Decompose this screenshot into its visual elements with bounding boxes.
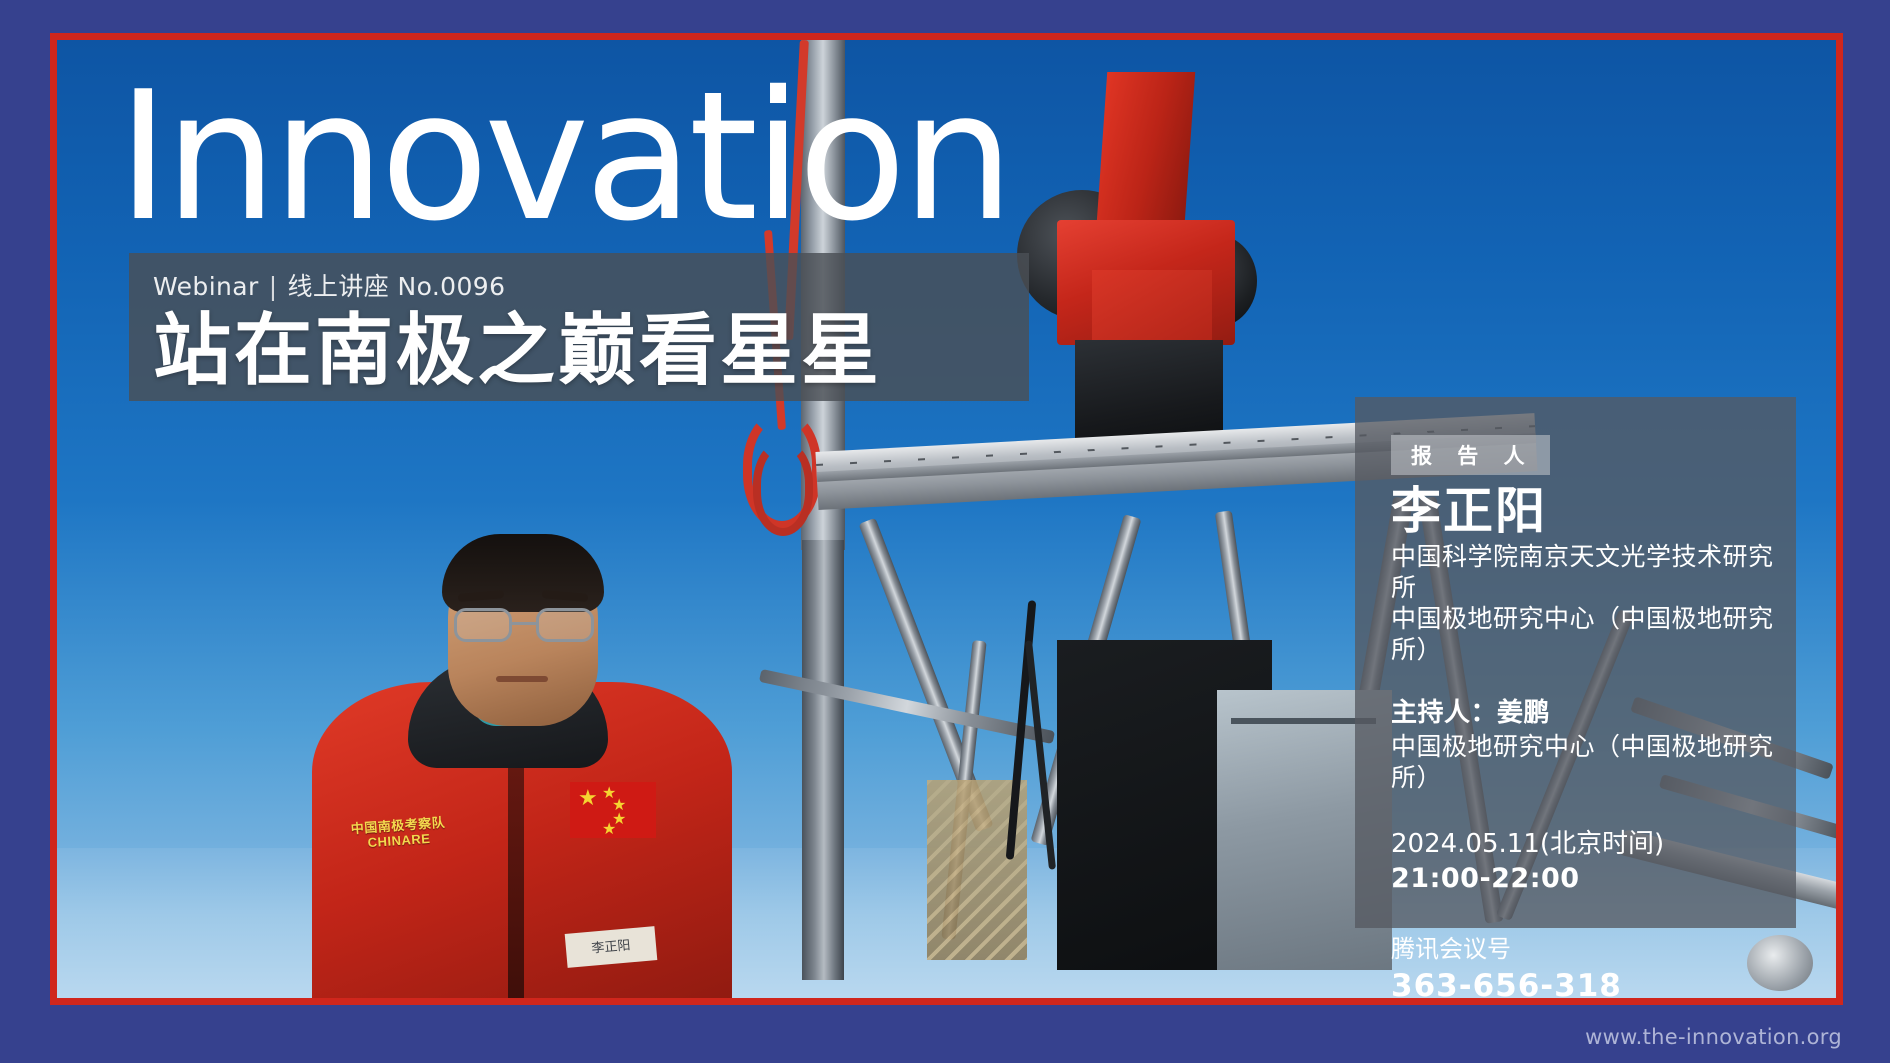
speaker-affiliation-1: 中国科学院南京天文光学技术研究所 bbox=[1391, 541, 1796, 603]
host-affiliation: 中国极地研究中心（中国极地研究所） bbox=[1391, 731, 1796, 793]
telescope-mast-lower bbox=[802, 540, 844, 980]
glasses-bridge bbox=[512, 622, 536, 625]
datetime-block: 2024.05.11(北京时间) 21:00-22:00 bbox=[1391, 827, 1796, 897]
host-block: 主持人：姜鹏 中国极地研究中心（中国极地研究所） bbox=[1391, 695, 1796, 793]
meeting-label: 腾讯会议号 bbox=[1391, 933, 1796, 965]
footer-website-url[interactable]: www.the-innovation.org bbox=[1585, 1025, 1842, 1049]
speaker-affiliation-2: 中国极地研究中心（中国极地研究所） bbox=[1391, 603, 1796, 665]
page-title: 站在南极之巅看星星 bbox=[153, 305, 1029, 397]
meeting-block: 腾讯会议号 363-656-318 bbox=[1391, 933, 1796, 1005]
lens-left bbox=[454, 608, 512, 642]
webinar-info-panel: 报 告 人 李正阳 中国科学院南京天文光学技术研究所 中国极地研究中心（中国极地… bbox=[1355, 397, 1796, 928]
meeting-id: 363-656-318 bbox=[1391, 965, 1796, 1005]
instrument-red-chimney bbox=[1097, 72, 1195, 222]
lens-right bbox=[536, 608, 594, 642]
webinar-date: 2024.05.11(北京时间) bbox=[1391, 827, 1796, 861]
eyebrow-label-cn: 线上讲座 No.0096 bbox=[288, 272, 506, 301]
eyebrow-label-en: Webinar bbox=[153, 272, 259, 301]
flag-star-small: ★ bbox=[602, 822, 616, 838]
webinar-time: 21:00-22:00 bbox=[1391, 861, 1796, 897]
webinar-eyebrow: Webinar|线上讲座 No.0096 bbox=[153, 267, 1029, 303]
title-band: Webinar|线上讲座 No.0096 站在南极之巅看星星 bbox=[129, 253, 1029, 401]
speaker-photo: ★ ★ ★ ★ ★ 中国南极考察队 CHINARE 李正阳 bbox=[312, 530, 732, 998]
jacket-chinare-text: 中国南极考察队 CHINARE bbox=[333, 814, 466, 867]
mouth bbox=[496, 676, 548, 682]
host-name: 主持人：姜鹏 bbox=[1391, 695, 1796, 731]
innovation-wordmark: Innovation bbox=[117, 68, 1009, 246]
red-cable-coil-inner bbox=[753, 440, 813, 536]
poster-frame: ★ ★ ★ ★ ★ 中国南极考察队 CHINARE 李正阳 Innovation… bbox=[50, 33, 1843, 1005]
flag-star-large: ★ bbox=[578, 790, 598, 806]
china-flag-patch: ★ ★ ★ ★ ★ bbox=[570, 782, 656, 838]
eyebrow-separator: | bbox=[259, 272, 288, 301]
speaker-name: 李正阳 bbox=[1391, 481, 1796, 541]
glasses-icon bbox=[454, 608, 594, 642]
speaker-badge: 报 告 人 bbox=[1391, 435, 1550, 475]
